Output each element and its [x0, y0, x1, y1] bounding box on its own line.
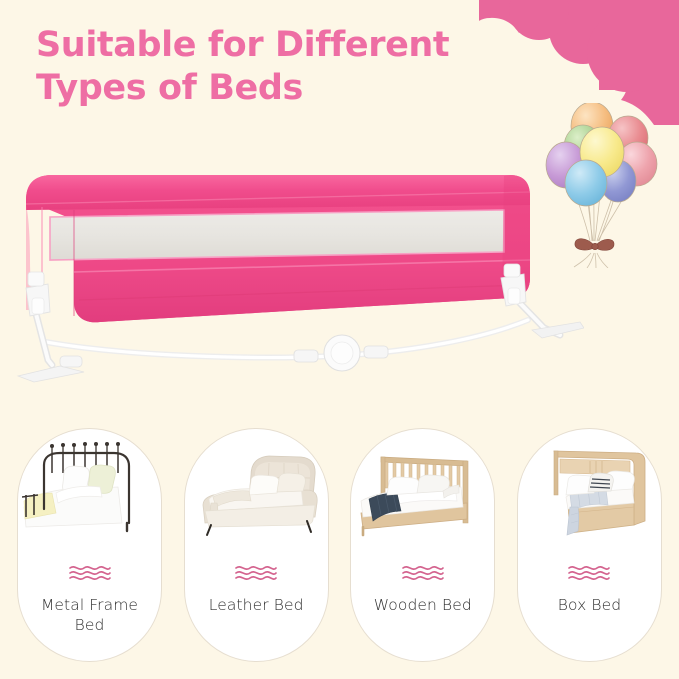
wave-divider-icon [567, 563, 611, 586]
page-title: Suitable for Different Types of Beds [36, 24, 516, 109]
bed-type-card-wooden-bed[interactable]: Wooden Bed [350, 428, 495, 662]
poster-canvas: Suitable for Different Types of Beds [0, 0, 679, 679]
box-bed-photo [522, 435, 657, 553]
wave-divider-icon [401, 563, 445, 586]
bed-type-card-metal-frame-bed[interactable]: Metal Frame Bed [17, 428, 162, 662]
rail-center-hinge [294, 335, 388, 371]
rail-left-bracket [26, 272, 50, 316]
wave-divider-icon [234, 563, 278, 586]
wave-divider-icon [68, 563, 112, 586]
bed-type-card-list: Metal Frame Bed [0, 428, 679, 668]
leather-bed-photo [189, 435, 324, 553]
rail-fabric-panel [26, 175, 530, 322]
metal-frame-bed-photo [22, 435, 157, 553]
bed-type-label: Box Bed [550, 595, 629, 615]
pink-bed-rail-product-image [4, 160, 584, 400]
bed-type-label: Leather Bed [201, 595, 312, 615]
bed-type-card-box-bed[interactable]: Box Bed [517, 428, 662, 662]
bed-type-label: Metal Frame Bed [18, 595, 161, 635]
wooden-bed-photo [355, 435, 490, 553]
bed-type-card-leather-bed[interactable]: Leather Bed [184, 428, 329, 662]
bed-type-label: Wooden Bed [366, 595, 480, 615]
